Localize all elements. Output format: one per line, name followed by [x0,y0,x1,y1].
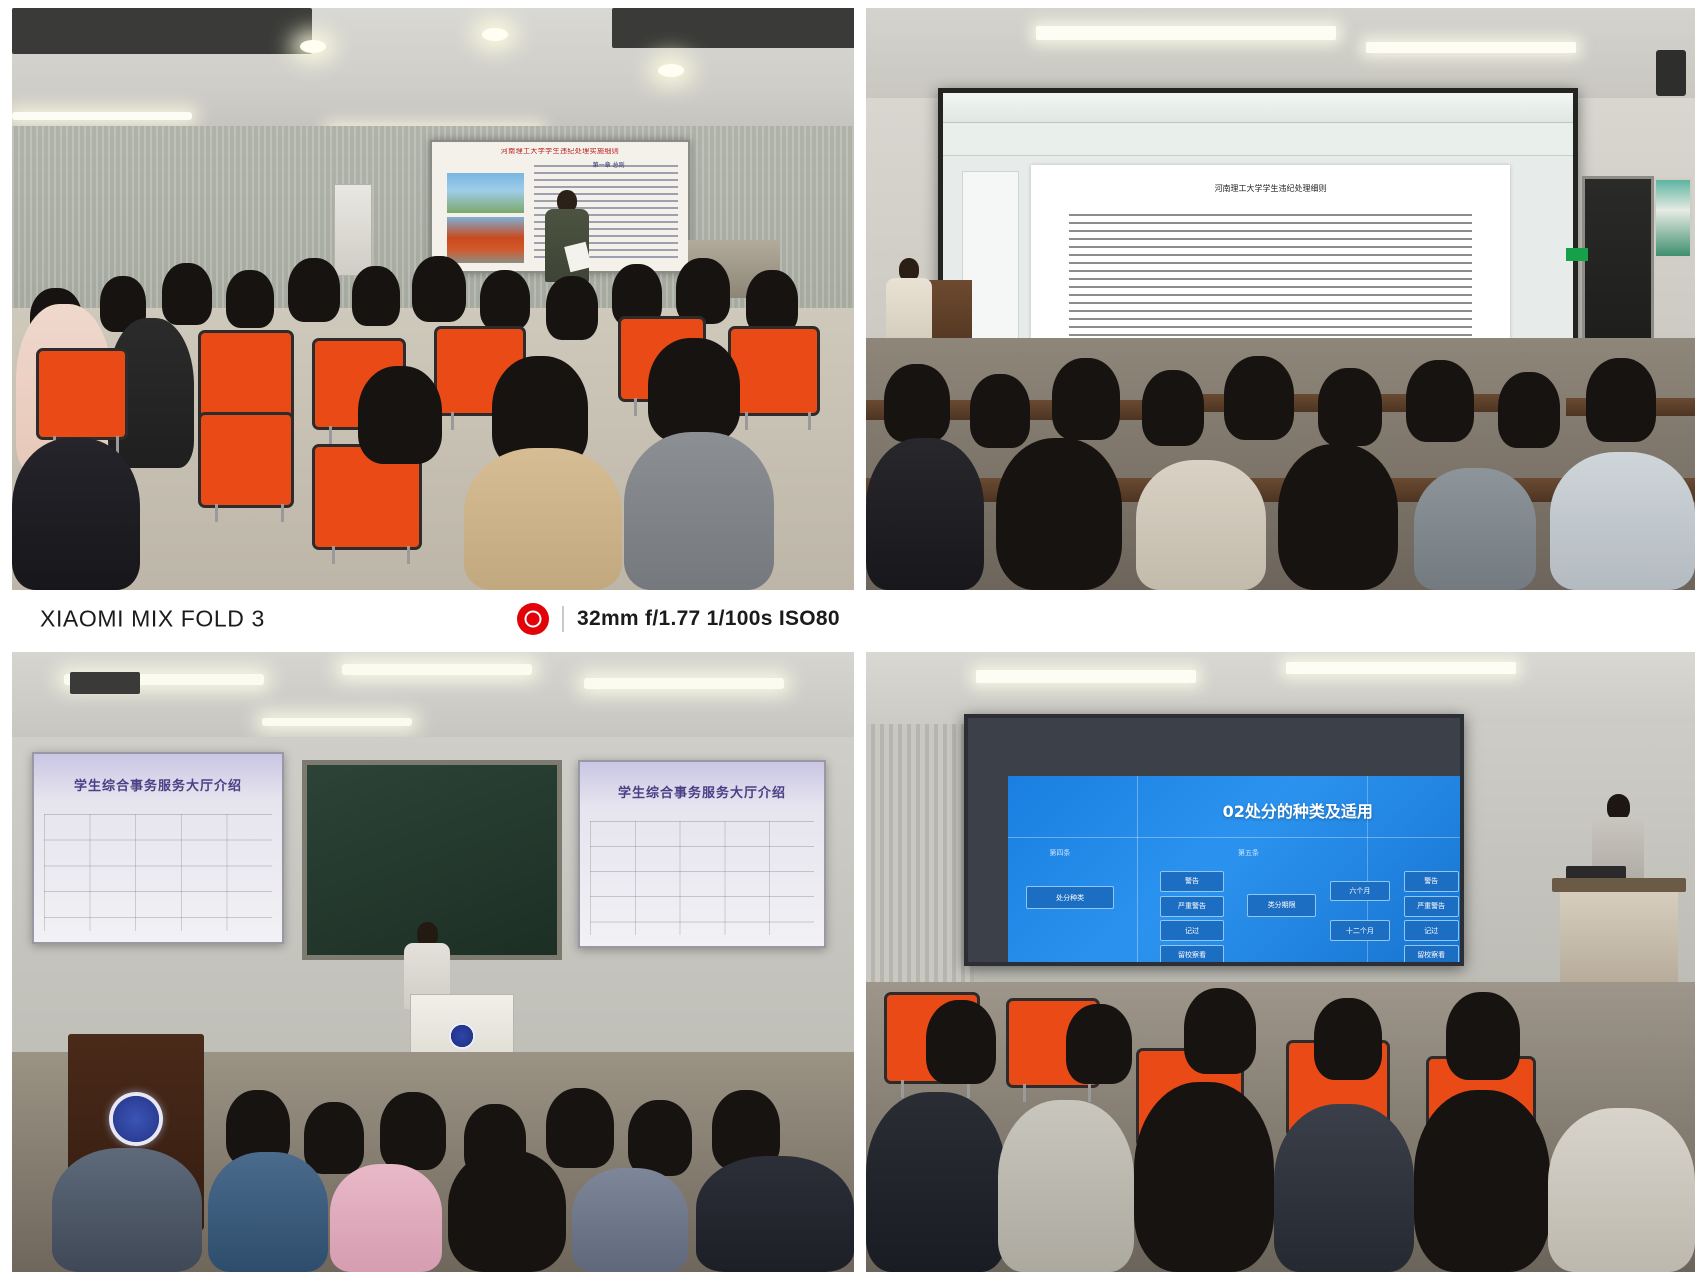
audience-person [628,1100,692,1176]
audience-person [226,270,274,328]
slide-box: 留校察看 [1160,945,1224,964]
audience-person [572,1168,688,1272]
audience-person [1136,460,1266,590]
slide-box: 类分期限 [1247,894,1316,917]
document-toolbar [943,93,1573,123]
slide-column-header: 第四条 [1049,848,1070,858]
audience-person [1052,358,1120,440]
slide-title: 学生综合事务服务大厅介绍 [590,782,814,808]
audience-person [1586,358,1656,442]
downlight [482,28,508,41]
slide-box: 警告 [1160,871,1224,892]
audience-person [624,432,774,590]
exit-sign [1566,248,1588,261]
ceiling-projector [70,672,140,694]
audience-person [970,374,1030,448]
audience-person [380,1092,446,1170]
audience-person [866,438,984,590]
audience-person [1414,468,1536,590]
document-ribbon [943,123,1573,156]
audience-person [866,1092,1006,1272]
audience-person [1550,452,1695,590]
audience-person [1134,1082,1274,1272]
slide-box: 六个月 [1330,881,1390,902]
ceiling-light [262,718,412,726]
audience-person [304,1102,364,1174]
slide-image-red-gate [447,217,524,263]
divider [562,606,564,632]
audience-person [1184,988,1256,1074]
audience-person [1498,372,1560,448]
slide-title: 02处分的种类及适用 [1146,793,1450,827]
ceiling-light [1286,662,1516,674]
audience-person [696,1156,854,1272]
slide-box: 十二个月 [1330,920,1390,941]
presenter-body [886,278,932,342]
audience-person [1142,370,1204,446]
audience-person [330,1164,442,1272]
downlight [300,40,326,53]
slide-table [590,821,814,935]
lecture-chair [36,348,128,440]
wall-speaker [1656,50,1686,96]
audience-person [208,1152,328,1272]
audience-person [1406,360,1474,442]
lecture-chair [198,412,294,508]
photo-top-left[interactable]: 河南理工大学学生违纪处理实施细则 第一章 总则 [12,8,854,590]
presenter-figure [545,190,589,282]
led-video-wall[interactable]: 02处分的种类及适用 第四条 第五条 处分种类 警告 严重警告 记过 留校察看 … [964,714,1464,966]
camera-model-label: XIAOMI MIX FOLD 3 [40,606,265,633]
audience-person [412,256,466,322]
leica-logo-icon [517,603,549,635]
audience-person [162,263,212,325]
audience-person [1066,1004,1132,1084]
audience-person [648,338,740,442]
audience-person [746,270,798,334]
document-heading: 河南理工大学学生违纪处理细则 [1117,183,1423,201]
projection-screen-left[interactable]: 学生综合事务服务大厅介绍 [32,752,284,944]
slide-box: 记过 [1160,920,1224,941]
downlight [658,64,684,77]
camera-watermark-bar: XIAOMI MIX FOLD 3 32mm f/1.77 1/100s ISO… [12,590,854,648]
presentation-slide: 02处分的种类及适用 第四条 第五条 处分种类 警告 严重警告 记过 留校察看 … [1008,776,1464,966]
audience-person [926,1000,996,1084]
wall-poster [1654,178,1692,258]
lecture-chair [728,326,820,416]
audience-person [1446,992,1520,1080]
slide-box: 严重警告 [1160,896,1224,917]
slide-box: 警告 [1404,871,1459,892]
audience-person [1314,998,1382,1080]
audience-person [1414,1090,1550,1272]
audience-person [996,438,1122,590]
audience-person [1274,1104,1414,1272]
photo-top-right[interactable]: 河南理工大学学生违纪处理细则 [866,8,1695,590]
ceiling-light [1366,42,1576,53]
audience-person [998,1100,1134,1272]
ceiling-light [342,664,532,675]
podium-top [1552,878,1686,892]
slide-box: 处分种类 [1026,886,1113,909]
audience-person [546,1088,614,1168]
photo-collage: 河南理工大学学生违纪处理实施细则 第一章 总则 [0,0,1707,1279]
photo-bottom-right[interactable]: 02处分的种类及适用 第四条 第五条 处分种类 警告 严重警告 记过 留校察看 … [866,652,1695,1272]
audience-person [1548,1108,1695,1272]
audience-person [288,258,340,322]
slide-box: 留校察看 [1404,945,1459,964]
audience-person [358,366,442,464]
university-emblem-icon [109,1092,163,1146]
audience-person [546,276,598,340]
ceiling-light [976,670,1196,683]
audience-person [464,448,622,590]
ceiling-light [12,112,192,120]
audience-person [52,1148,202,1272]
audience-person [480,270,530,330]
audience-person [1224,356,1294,440]
slide-title: 学生综合事务服务大厅介绍 [44,775,272,801]
ceiling-beam [12,8,312,54]
ceiling-light [1036,26,1336,40]
audience-person [884,364,950,442]
photo-bottom-left[interactable]: 学生综合事务服务大厅介绍 学生综合事务服务大厅介绍 [12,652,854,1272]
audience-person [448,1150,566,1272]
audience-person [12,438,140,590]
audience-person [352,266,400,326]
university-emblem-icon [449,1023,475,1049]
slide-box: 严重警告 [1404,896,1459,917]
slide-image-campus-gate [447,173,524,213]
audience-person [676,258,730,324]
ceiling-light [584,678,784,689]
exif-group: 32mm f/1.77 1/100s ISO80 [517,603,840,635]
ceiling-beam [612,8,854,48]
presenter-figure [886,258,932,342]
slide-column-header: 第五条 [1238,848,1259,858]
wall-cabinet [334,184,372,276]
exif-label: 32mm f/1.77 1/100s ISO80 [577,607,840,631]
projection-screen-right[interactable]: 学生综合事务服务大厅介绍 [578,760,826,948]
slide-box: 记过 [1404,920,1459,941]
audience-person [1318,368,1382,446]
slide-table [44,814,272,931]
audience-person [1278,444,1398,590]
